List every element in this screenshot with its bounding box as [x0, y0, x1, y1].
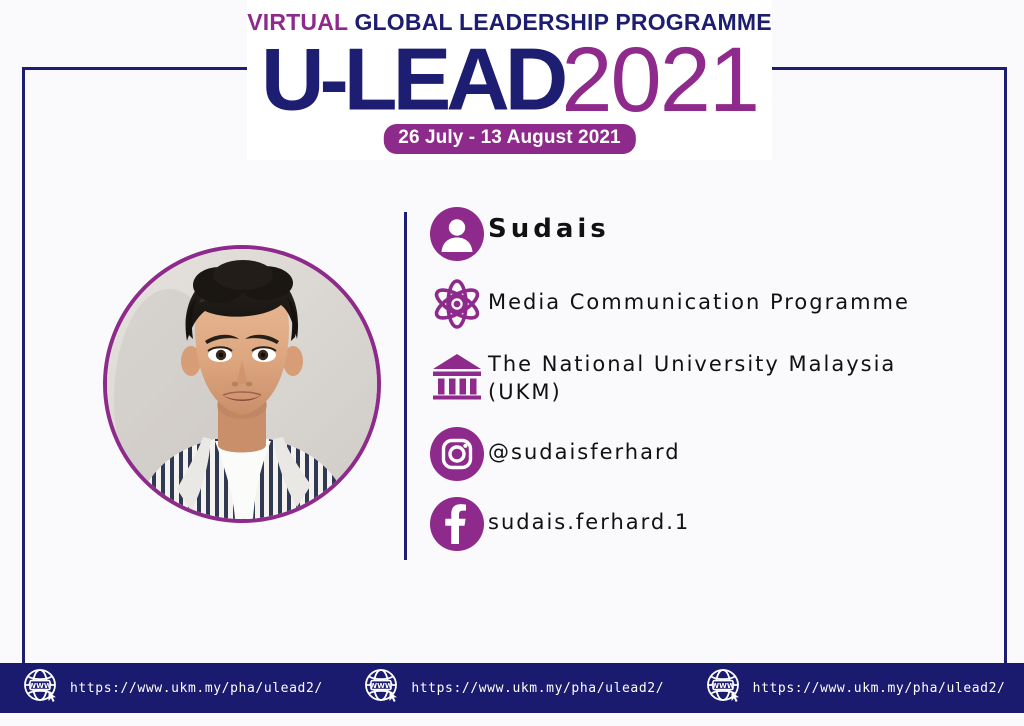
instagram-handle: @sudaisferhard — [488, 426, 681, 466]
person-icon — [430, 206, 488, 262]
info-row-instagram[interactable]: @sudaisferhard — [430, 426, 970, 482]
participant-info-panel: Sudais Media Communication Programme — [430, 206, 970, 566]
footer-link-3[interactable]: WWW https://www.ukm.my/pha/ulead2/ — [683, 667, 1024, 709]
instagram-icon[interactable] — [430, 426, 488, 482]
event-wordmark: U-LEAD2021 — [247, 33, 772, 125]
atom-icon — [430, 276, 488, 332]
info-divider — [404, 212, 407, 560]
footer-link-2[interactable]: WWW https://www.ukm.my/pha/ulead2/ — [341, 667, 682, 709]
footer-bar: WWW https://www.ukm.my/pha/ulead2/ WWW h… — [0, 663, 1024, 713]
globe-www-icon: WWW — [22, 667, 60, 709]
programme-name: Media Communication Programme — [488, 276, 910, 316]
footer-url-text: https://www.ukm.my/pha/ulead2/ — [753, 681, 1006, 696]
event-logo-block: VIRTUAL GLOBAL LEADERSHIP PROGRAMME U-LE… — [247, 0, 772, 160]
facebook-icon[interactable] — [430, 496, 488, 552]
svg-text:WWW: WWW — [711, 682, 734, 690]
svg-text:WWW: WWW — [28, 682, 51, 690]
info-row-facebook[interactable]: sudais.ferhard.1 — [430, 496, 970, 552]
event-date-badge: 26 July - 13 August 2021 — [383, 124, 635, 154]
participant-photo — [103, 245, 381, 523]
university-name: The National University Malaysia (UKM) — [488, 346, 896, 406]
footer-url-text: https://www.ukm.my/pha/ulead2/ — [411, 681, 664, 696]
participant-name: Sudais — [488, 206, 610, 243]
info-row-programme: Media Communication Programme — [430, 276, 970, 332]
info-row-name: Sudais — [430, 206, 970, 262]
footer-url-text: https://www.ukm.my/pha/ulead2/ — [70, 681, 323, 696]
portrait-illustration — [107, 249, 377, 519]
info-row-university: The National University Malaysia (UKM) — [430, 346, 970, 416]
wordmark-ulead: U-LEAD — [261, 30, 563, 129]
footer-link-1[interactable]: WWW https://www.ukm.my/pha/ulead2/ — [0, 667, 341, 709]
wordmark-year: 2021 — [561, 29, 758, 131]
svg-text:WWW: WWW — [370, 682, 393, 690]
university-icon — [430, 346, 488, 416]
globe-www-icon: WWW — [363, 667, 401, 709]
globe-www-icon: WWW — [705, 667, 743, 709]
facebook-handle: sudais.ferhard.1 — [488, 496, 690, 536]
